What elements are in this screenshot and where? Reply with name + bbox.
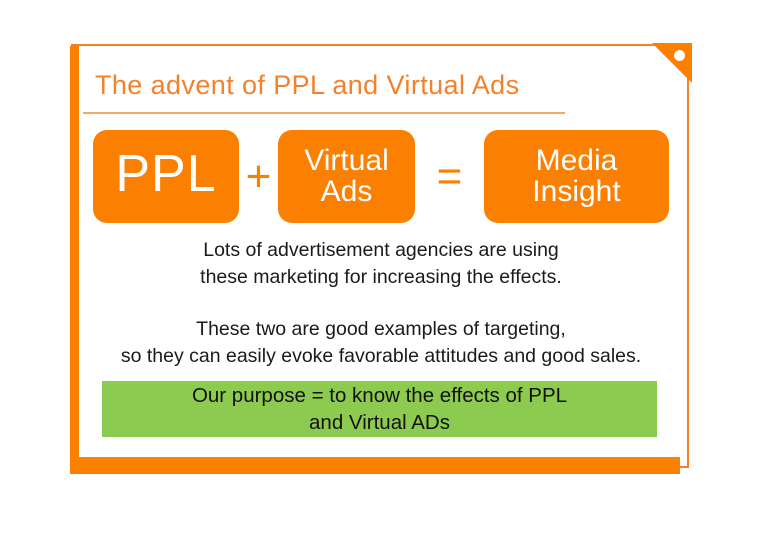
formula-box-ppl: PPL [93,130,239,223]
formula-box-ppl-label: PPL [115,148,216,202]
body-paragraph-1: Lots of advertisement agencies are using… [71,237,691,291]
purpose-statement: Our purpose = to know the effects of PPL… [192,382,567,436]
formula-box-virtual-ads-label: Virtual Ads [304,146,389,208]
slide-frame: The advent of PPL and Virtual Ads PPL + … [71,44,691,474]
frame-bottom-bar [70,457,680,474]
formula-box-media-insight-label: Media Insight [532,146,620,208]
purpose-highlight-band: Our purpose = to know the effects of PPL… [102,381,657,437]
punch-hole-icon [674,50,685,61]
plus-operator-icon: + [239,130,278,223]
slide-title: The advent of PPL and Virtual Ads [95,70,519,101]
title-divider [83,112,565,114]
formula-box-virtual-ads: Virtual Ads [278,130,415,223]
equals-operator-icon: = [415,130,484,223]
formula-box-media-insight: Media Insight [484,130,669,223]
formula-row: PPL + Virtual Ads = Media Insight [93,130,669,224]
body-paragraph-2: These two are good examples of targeting… [71,316,691,370]
